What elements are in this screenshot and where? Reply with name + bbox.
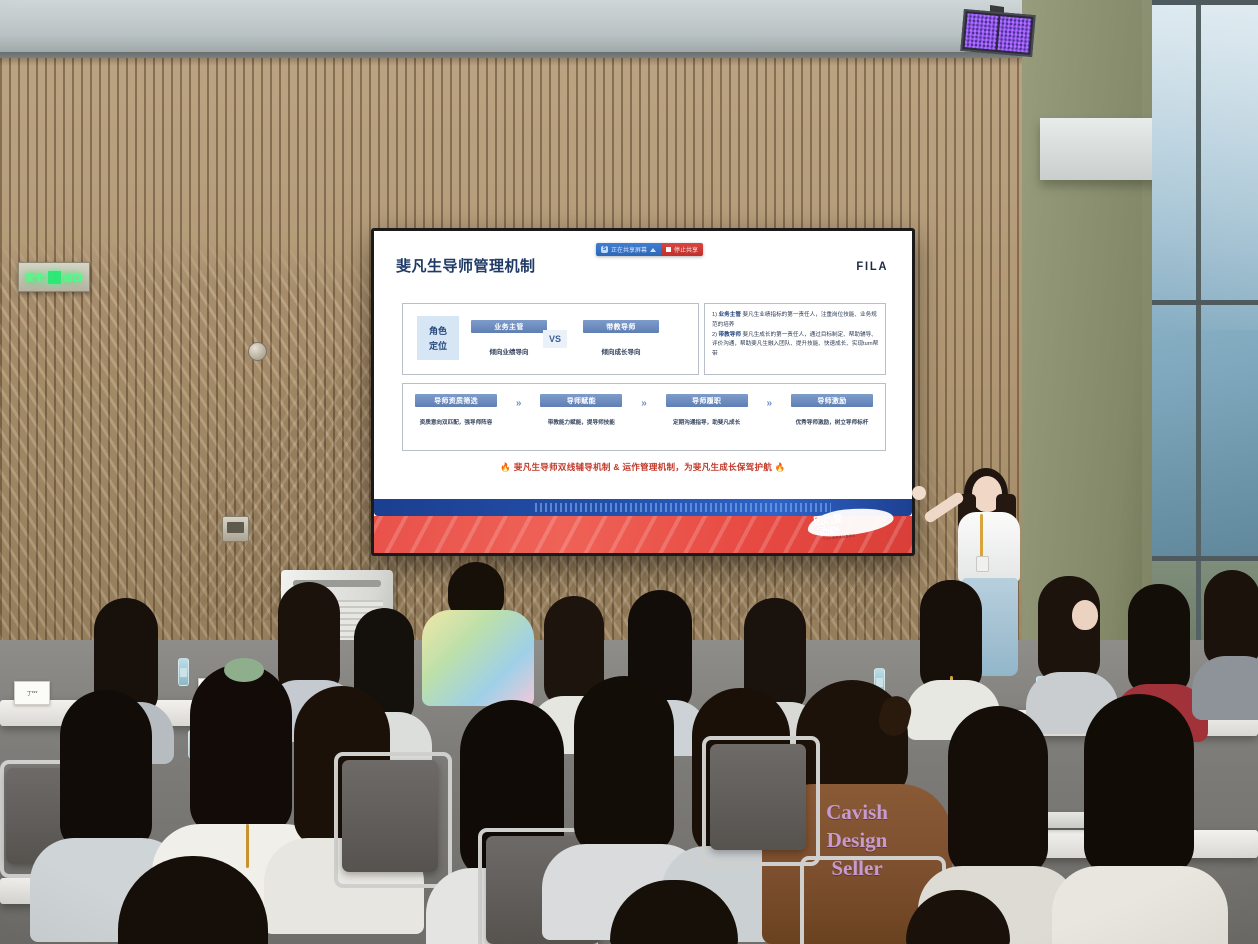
sub-business-supervisor: 倾向业绩导向 (471, 346, 547, 356)
bullet-2-term: 带教导师 (719, 332, 741, 338)
pill-business-supervisor: 业务主管 (471, 320, 547, 333)
slide-banner: 因热爱 而趋 FILA 青春运动嘉年华 (374, 499, 912, 553)
bullet-1-term: 业务主管 (719, 312, 741, 318)
exit-sign-left-text: 安全 (25, 271, 44, 284)
ceiling-shadow (0, 52, 1080, 66)
banner-dot-pattern (535, 503, 831, 512)
hair (190, 664, 292, 834)
torso-floral-shirt (422, 610, 534, 706)
flow-step-4-label: 导师激励 (791, 394, 873, 407)
hair (1038, 576, 1100, 682)
chevron-up-icon[interactable] (650, 248, 656, 252)
share-status-label: 正在共享屏幕 (611, 245, 647, 254)
chair-seatback-mid-left (342, 760, 438, 872)
flow-step-3-desc: 定期沟通指导，助斐凡成长 (666, 418, 748, 426)
fila-logo: FILA (857, 259, 889, 273)
presentation-display: S 正在共享屏幕 停止共享 斐凡生导师管理机制 FILA (371, 228, 915, 556)
stop-square-icon (666, 247, 671, 252)
flow-step-1-label: 导师资质筛选 (415, 394, 497, 407)
slide-kicker: 🔥 斐凡生导师双线辅导机制 & 运作管理机制，为斐凡生成长保驾护航 🔥 (374, 461, 912, 473)
display-screen: S 正在共享屏幕 停止共享 斐凡生导师管理机制 FILA (374, 231, 912, 553)
mentor-flow: 导师资质筛选 资质意向双匹配，强导师阵容 » 导师赋能 带教能力赋能，提导师技能… (415, 394, 873, 426)
chair-seatback-right-mid (710, 744, 806, 850)
flow-step-4: 导师激励 优秀导师激励，树立导师标杆 (791, 394, 873, 426)
hair-scrunchie (224, 658, 264, 682)
definition-panel: 1) 业务主管 斐凡生业绩指标的第一责任人，注重岗位技能、业务规范的培养 2) … (704, 303, 886, 375)
window-frame-lower (1152, 556, 1258, 561)
flow-step-2-desc: 带教能力赋能，提导师技能 (540, 418, 622, 426)
role-tag-line1: 角色 (429, 324, 447, 337)
name-card-1: 丁*** (14, 681, 50, 705)
chevron-right-icon-2: » (641, 398, 647, 409)
flow-step-4-desc: 优秀导师激励，树立导师标杆 (791, 418, 873, 426)
torso (1052, 866, 1228, 944)
role-positioning-panel: 角色 定位 业务主管 倾向业绩导向 VS 带教导师 倾向成长导向 (402, 303, 699, 375)
led-stage-light (960, 9, 1035, 57)
window-daylight-glow (1152, 0, 1258, 330)
flow-step-3-label: 导师履职 (666, 394, 748, 407)
conference-room-screenshot: 安全 出口 S 正在共享屏幕 停止共享 (0, 0, 1258, 944)
slide-title: 斐凡生导师管理机制 (396, 255, 536, 276)
sub-mentor: 倾向成长导向 (583, 346, 659, 356)
bullet-2-num: 2) (712, 332, 717, 338)
stop-share-label: 停止共享 (674, 245, 698, 254)
hair (574, 676, 674, 854)
slide-body: S 正在共享屏幕 停止共享 斐凡生导师管理机制 FILA (374, 231, 912, 499)
vs-badge: VS (543, 330, 567, 348)
flow-step-1-desc: 资质意向双匹配，强导师阵容 (415, 418, 497, 426)
face (1072, 600, 1098, 630)
window-frame-mid (1152, 300, 1258, 305)
audience-member-19 (1064, 694, 1214, 944)
wall-sensor (248, 342, 267, 361)
exit-sign-right-text: 出口 (64, 271, 83, 284)
share-status-button[interactable]: S 正在共享屏幕 (596, 243, 661, 256)
flow-step-2: 导师赋能 带教能力赋能，提导师技能 (540, 394, 622, 426)
presenter-top (958, 512, 1020, 582)
hair (1128, 584, 1190, 694)
role-tag: 角色 定位 (417, 316, 459, 360)
flame-icon-left: 🔥 (500, 462, 511, 472)
led-half-right (998, 16, 1032, 53)
running-man-icon (48, 271, 61, 284)
hair (1084, 694, 1194, 876)
window-frame-top (1152, 0, 1258, 5)
hair (948, 706, 1048, 876)
led-half-left (965, 13, 999, 50)
flow-step-1: 导师资质筛选 资质意向双匹配，强导师阵容 (415, 394, 497, 426)
bullet-2: 2) 带教导师 斐凡生成长的第一责任人，通过目标制定、帮助辅导、评价沟通，帮助斐… (712, 331, 879, 360)
bullet-1-num: 1) (712, 312, 717, 318)
audience-member-21 (600, 880, 750, 944)
audience-member-4 (432, 562, 528, 722)
stop-share-button[interactable]: 停止共享 (661, 243, 703, 256)
role-tag-line2: 定位 (429, 339, 447, 352)
flow-step-2-label: 导师赋能 (540, 394, 622, 407)
audience-member-20 (104, 856, 284, 944)
emergency-exit-sign: 安全 出口 (18, 262, 90, 292)
hair (60, 690, 152, 850)
presenter-hand (912, 486, 926, 500)
screen-share-toolbar[interactable]: S 正在共享屏幕 停止共享 (596, 243, 703, 256)
wall-control-plate[interactable] (222, 516, 249, 542)
hair (906, 890, 1010, 944)
pill-mentor: 带教导师 (583, 320, 659, 333)
presenter-lanyard (980, 514, 983, 560)
audience-member-22 (900, 890, 1020, 944)
screen-share-icon: S (601, 246, 608, 253)
flame-icon-right: 🔥 (775, 462, 786, 472)
hair (610, 880, 738, 944)
presenter-badge (976, 556, 989, 572)
mentor-lifecycle-panel: 导师资质筛选 资质意向双匹配，强导师阵容 » 导师赋能 带教能力赋能，提导师技能… (402, 383, 886, 451)
hair (1204, 570, 1258, 666)
hair (118, 856, 268, 944)
definition-bullets: 1) 业务主管 斐凡生业绩指标的第一责任人，注重岗位技能、业务规范的培养 2) … (712, 311, 879, 360)
slide: S 正在共享屏幕 停止共享 斐凡生导师管理机制 FILA (374, 231, 912, 553)
bullet-1: 1) 业务主管 斐凡生业绩指标的第一责任人，注重岗位技能、业务规范的培养 (712, 311, 879, 331)
chevron-right-icon-3: » (767, 398, 773, 409)
chevron-right-icon-1: » (516, 398, 522, 409)
slide-kicker-text: 斐凡生导师双线辅导机制 & 运作管理机制，为斐凡生成长保驾护航 (514, 462, 772, 472)
flow-step-3: 导师履职 定期沟通指导，助斐凡成长 (666, 394, 748, 426)
